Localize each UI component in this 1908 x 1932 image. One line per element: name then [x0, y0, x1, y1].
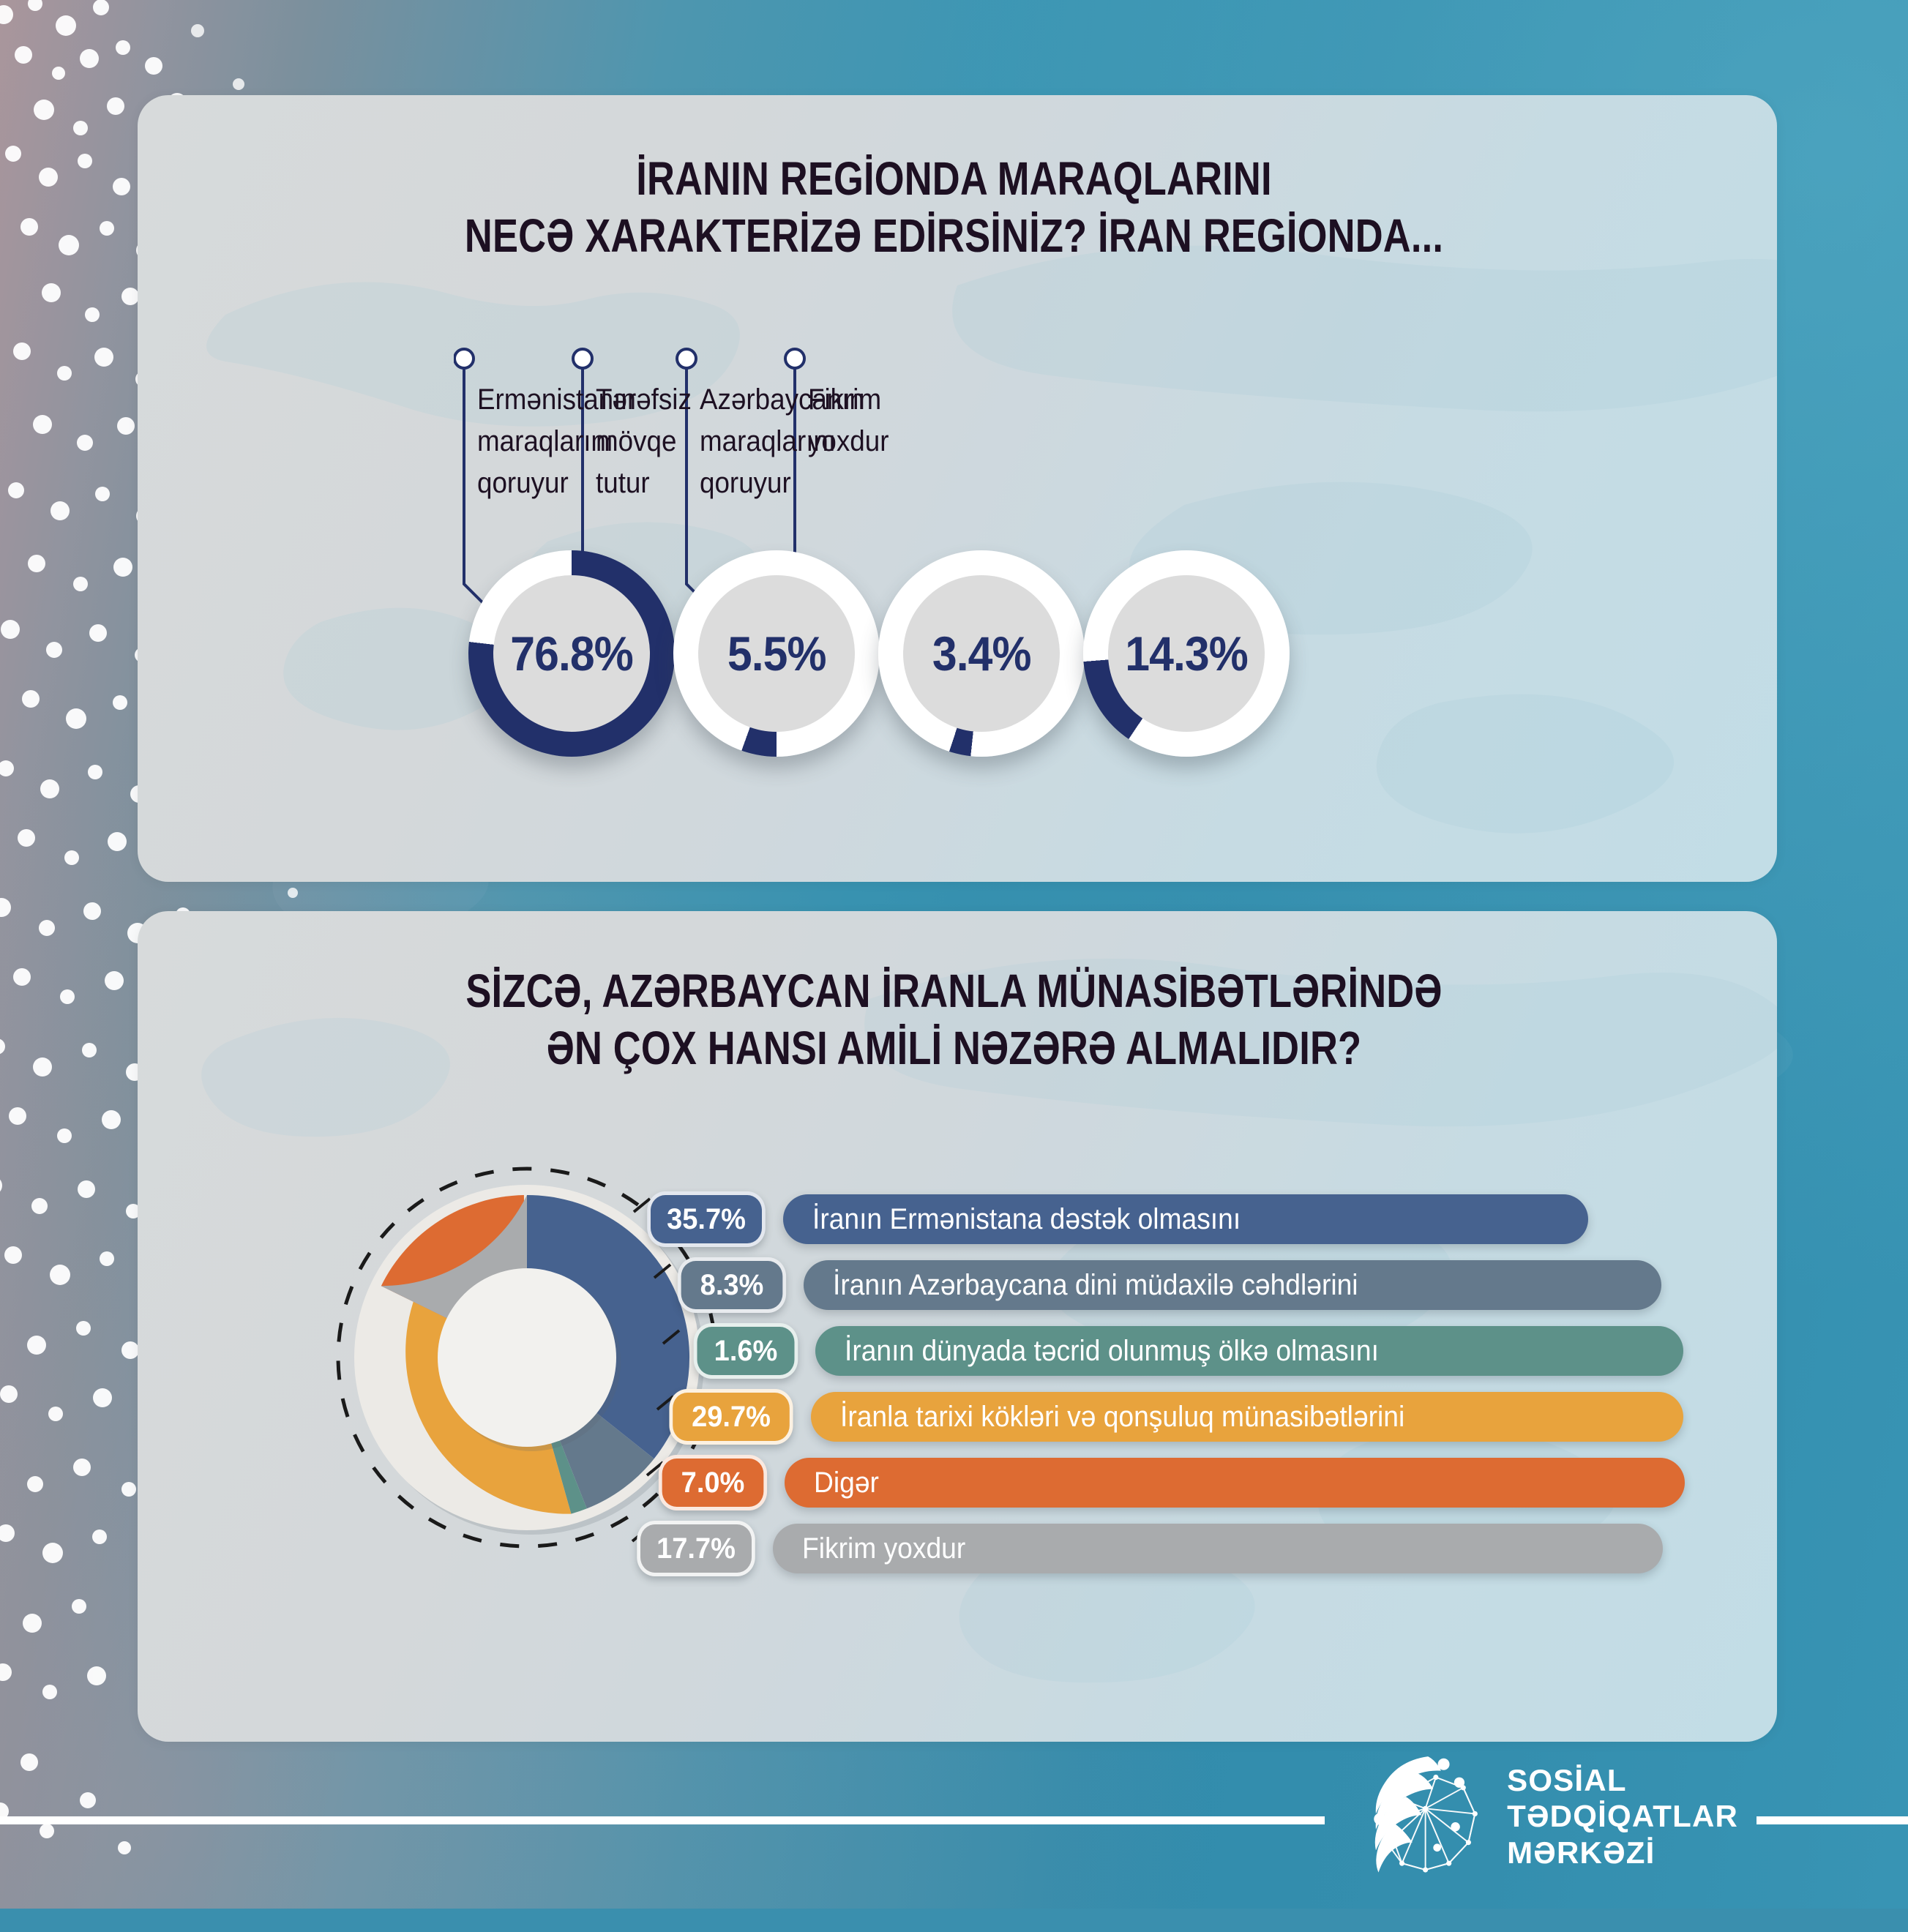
- donut-gauge-3-inner: 14.3%: [1108, 575, 1265, 732]
- legend-label-3: İranla tarixi kökləri və qonşuluq münasi…: [840, 1401, 1404, 1434]
- organization-logo: SOSİAL TƏDQİQATLAR MƏRKƏZİ: [1358, 1743, 1738, 1890]
- panel1-title: İRANIN REGİONDA MARAQLARINI NECƏ XARAKTE…: [172, 150, 1737, 264]
- donut-label-0: Ermənistanın maraqlarını qoruyur: [477, 379, 612, 503]
- donut-hole: [438, 1268, 616, 1447]
- panel1-title-line-1: İRANIN REGİONDA MARAQLARINI: [172, 150, 1737, 207]
- logo-line-3: MƏRKƏZİ: [1507, 1835, 1738, 1871]
- legend-label-2: İranın dünyada təcrid olunmuş ölkə olmas…: [845, 1335, 1379, 1368]
- logo-text: SOSİAL TƏDQİQATLAR MƏRKƏZİ: [1507, 1762, 1738, 1871]
- donut-gauge-1-inner: 5.5%: [698, 575, 855, 732]
- donut-gauge-2-value: 3.4%: [932, 626, 1031, 681]
- donut-label-1: Tərəfsiz mövqe tutur: [596, 379, 710, 503]
- legend-label-0: İranın Ermənistana dəstək olmasını: [812, 1203, 1241, 1236]
- donut-gauge-3: 14.3%: [1083, 550, 1290, 757]
- donut-gauge-0-value: 76.8%: [510, 626, 633, 681]
- donut-gauge-0: 76.8%: [468, 550, 675, 757]
- legend-bar-1[interactable]: İranın Azərbaycana dini müdaxilə cəhdlər…: [804, 1260, 1661, 1310]
- legend-bar-4[interactable]: Digər: [785, 1458, 1685, 1508]
- donut-gauge-2-inner: 3.4%: [903, 575, 1060, 732]
- panel1-title-line-2: NECƏ XARAKTERİZƏ EDİRSİNİZ? İRAN REGİOND…: [172, 207, 1737, 264]
- legend-bar-3[interactable]: İranla tarixi kökləri və qonşuluq münasi…: [811, 1392, 1683, 1442]
- logo-line-1: SOSİAL: [1507, 1762, 1738, 1799]
- legend-label-1: İranın Azərbaycana dini müdaxilə cəhdlər…: [833, 1269, 1358, 1302]
- footer-divider-right: [1757, 1816, 1908, 1824]
- footer-divider-left: [0, 1816, 1325, 1824]
- legend-bar-5[interactable]: Fikrim yoxdur: [773, 1524, 1663, 1573]
- legend-bar-2[interactable]: İranın dünyada təcrid olunmuş ölkə olmas…: [815, 1326, 1683, 1376]
- panel2-title-line-1: SİZCƏ, AZƏRBAYCAN İRANLA MÜNASİBƏTLƏRİND…: [172, 962, 1737, 1019]
- donut-gauge-0-inner: 76.8%: [493, 575, 650, 732]
- legend-label-5: Fikrim yoxdur: [802, 1532, 965, 1565]
- panel2-title-line-2: ƏN ÇOX HANSI AMİLİ NƏZƏRƏ ALMALIDIR?: [172, 1019, 1737, 1077]
- legend-badge-4: 7.0%: [659, 1455, 767, 1510]
- donut-gauge-2: 3.4%: [878, 550, 1085, 757]
- donut-label-3: Fikrim yoxdur: [808, 379, 922, 463]
- legend-bar-0[interactable]: İranın Ermənistana dəstək olmasını: [783, 1194, 1588, 1244]
- flame-globe-logo-icon: [1358, 1745, 1488, 1888]
- donut-gauge-1: 5.5%: [673, 550, 880, 757]
- donut-gauge-1-value: 5.5%: [727, 626, 826, 681]
- legend-badge-1: 8.3%: [678, 1257, 786, 1313]
- legend-badge-5: 17.7%: [637, 1521, 755, 1576]
- legend-label-4: Digər: [814, 1467, 879, 1499]
- legend-badge-0: 35.7%: [647, 1191, 766, 1247]
- legend-badge-3: 29.7%: [669, 1389, 793, 1445]
- logo-line-2: TƏDQİQATLAR: [1507, 1798, 1738, 1835]
- panel2-title: SİZCƏ, AZƏRBAYCAN İRANLA MÜNASİBƏTLƏRİND…: [172, 962, 1737, 1077]
- legend-badge-2: 1.6%: [694, 1323, 798, 1379]
- donut-gauge-3-value: 14.3%: [1125, 626, 1248, 681]
